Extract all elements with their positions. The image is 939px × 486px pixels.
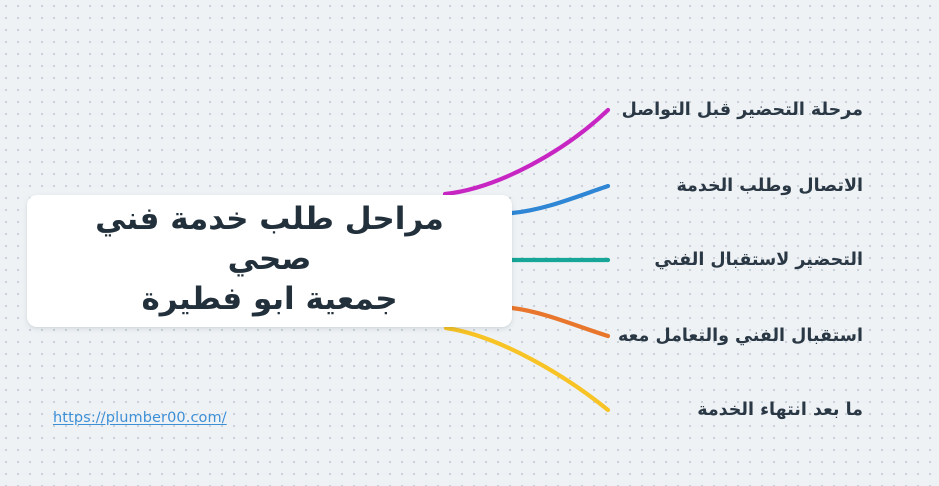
branch-label-2[interactable]: التحضير لاستقبال الفني bbox=[654, 250, 863, 270]
connector-branch-1 bbox=[512, 186, 608, 213]
branch-label-0[interactable]: مرحلة التحضير قبل التواصل bbox=[622, 100, 863, 120]
connector-branch-0 bbox=[445, 110, 608, 194]
root-node[interactable]: مراحل طلب خدمة فني صحي جمعية ابو فطيرة bbox=[27, 195, 512, 327]
root-node-title: مراحل طلب خدمة فني صحي جمعية ابو فطيرة bbox=[53, 199, 486, 320]
connector-branch-4 bbox=[446, 328, 608, 410]
branch-label-1[interactable]: الاتصال وطلب الخدمة bbox=[676, 176, 863, 196]
branch-label-3[interactable]: استقبال الفني والتعامل معه bbox=[618, 326, 863, 346]
branch-label-4[interactable]: ما بعد انتهاء الخدمة bbox=[697, 400, 863, 420]
mindmap-canvas: مراحل طلب خدمة فني صحي جمعية ابو فطيرة م… bbox=[0, 0, 939, 486]
website-link[interactable]: https://plumber00.com/ bbox=[53, 410, 227, 426]
connector-branch-3 bbox=[512, 308, 608, 336]
